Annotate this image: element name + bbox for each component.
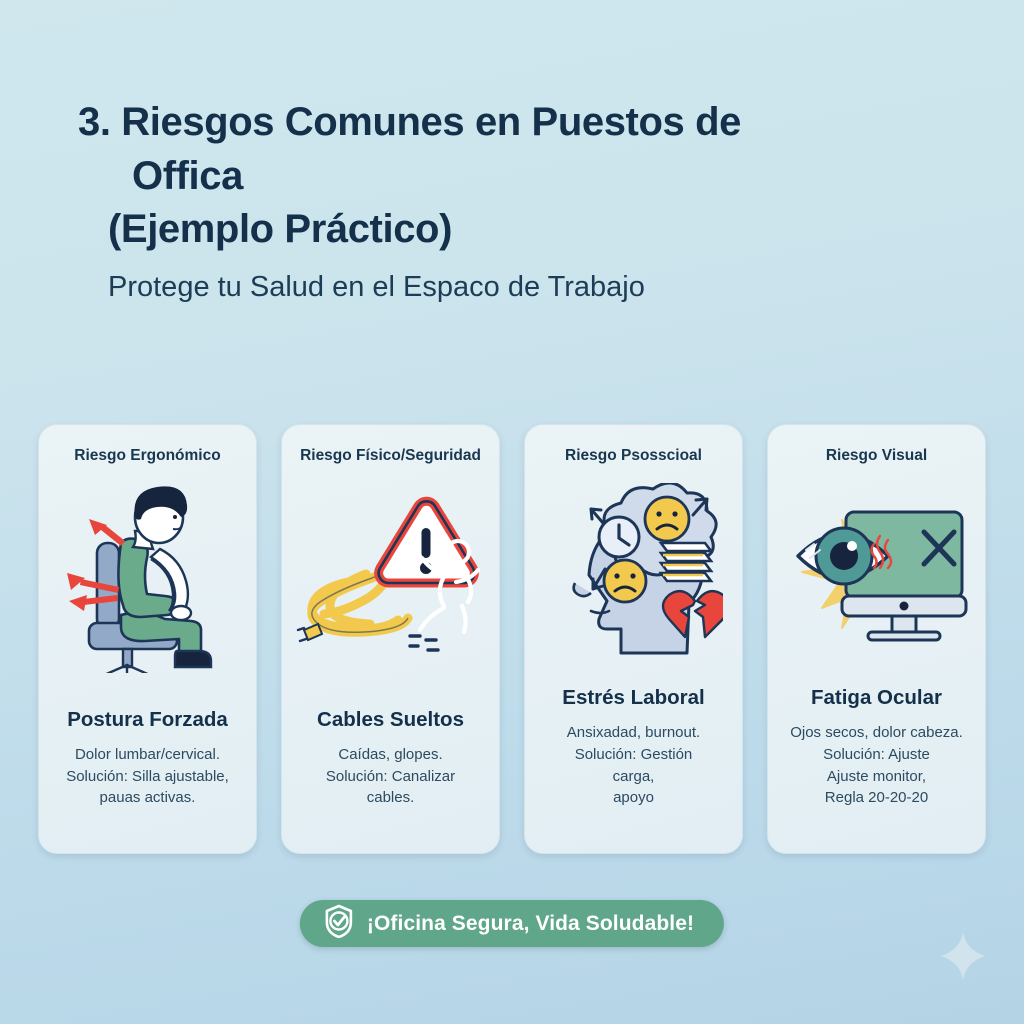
card-header-label: Riesgo Físico/Seguridad — [300, 447, 481, 466]
card-header-label: Riesgo Visual — [826, 447, 927, 466]
card-description: Caídas, glopes. Solución: Canalizar cabl… — [292, 744, 489, 809]
shield-check-icon — [324, 904, 354, 943]
page-subtitle: Protege tu Salud en el Espaco de Trabajo — [64, 269, 960, 307]
risk-card-ergonomic[interactable]: Riesgo Ergonómico — [38, 424, 257, 854]
card-title: Fatiga Ocular — [778, 686, 975, 711]
footer-badge[interactable]: ¡Oficina Segura, Vida Soludable! — [300, 900, 724, 947]
tangled-cable-warning-icon — [292, 480, 489, 676]
stressed-head-icon — [535, 480, 732, 676]
seated-person-bad-posture-icon — [49, 480, 246, 676]
page-title-line-2: Offica — [64, 150, 960, 204]
risk-cards-row: Riesgo Ergonómico — [38, 424, 986, 854]
page-title-line-3: (Ejemplo Práctico) — [64, 203, 960, 257]
risk-card-psychosocial[interactable]: Riesgo Psosscioal — [524, 424, 743, 854]
risk-card-physical-safety[interactable]: Riesgo Físico/Seguridad — [281, 424, 500, 854]
card-header-label: Riesgo Ergonómico — [74, 447, 220, 466]
card-description: Dolor lumbar/cervical. Solución: Silla a… — [49, 744, 246, 809]
header: 3. Riesgos Comunes en Puestos de Offica … — [0, 0, 1024, 306]
page-title-line-1: 3. Riesgos Comunes en Puestos de — [64, 96, 960, 150]
card-body: Cables Sueltos Caídas, glopes. Solución:… — [292, 708, 489, 835]
page-title: 3. Riesgos Comunes en Puestos de Offica … — [64, 96, 960, 306]
card-body: Postura Forzada Dolor lumbar/cervical. S… — [49, 708, 246, 835]
risk-card-visual[interactable]: Riesgo Visual — [767, 424, 986, 854]
card-title: Postura Forzada — [49, 708, 246, 733]
card-description: Ojos secos, dolor cabeza. Solución: Ajus… — [778, 722, 975, 809]
eye-monitor-strain-icon — [778, 480, 975, 676]
card-body: Fatiga Ocular Ojos secos, dolor cabeza. … — [778, 686, 975, 835]
card-title: Cables Sueltos — [292, 708, 489, 733]
card-header-label: Riesgo Psosscioal — [565, 447, 702, 466]
sparkle-icon — [940, 931, 986, 986]
card-title: Estrés Laboral — [535, 686, 732, 711]
card-description: Ansixadad, burnout. Solución: Gestión ca… — [535, 722, 732, 809]
footer-badge-label: ¡Oficina Segura, Vida Soludable! — [367, 912, 694, 936]
card-body: Estrés Laboral Ansixadad, burnout. Soluc… — [535, 686, 732, 835]
